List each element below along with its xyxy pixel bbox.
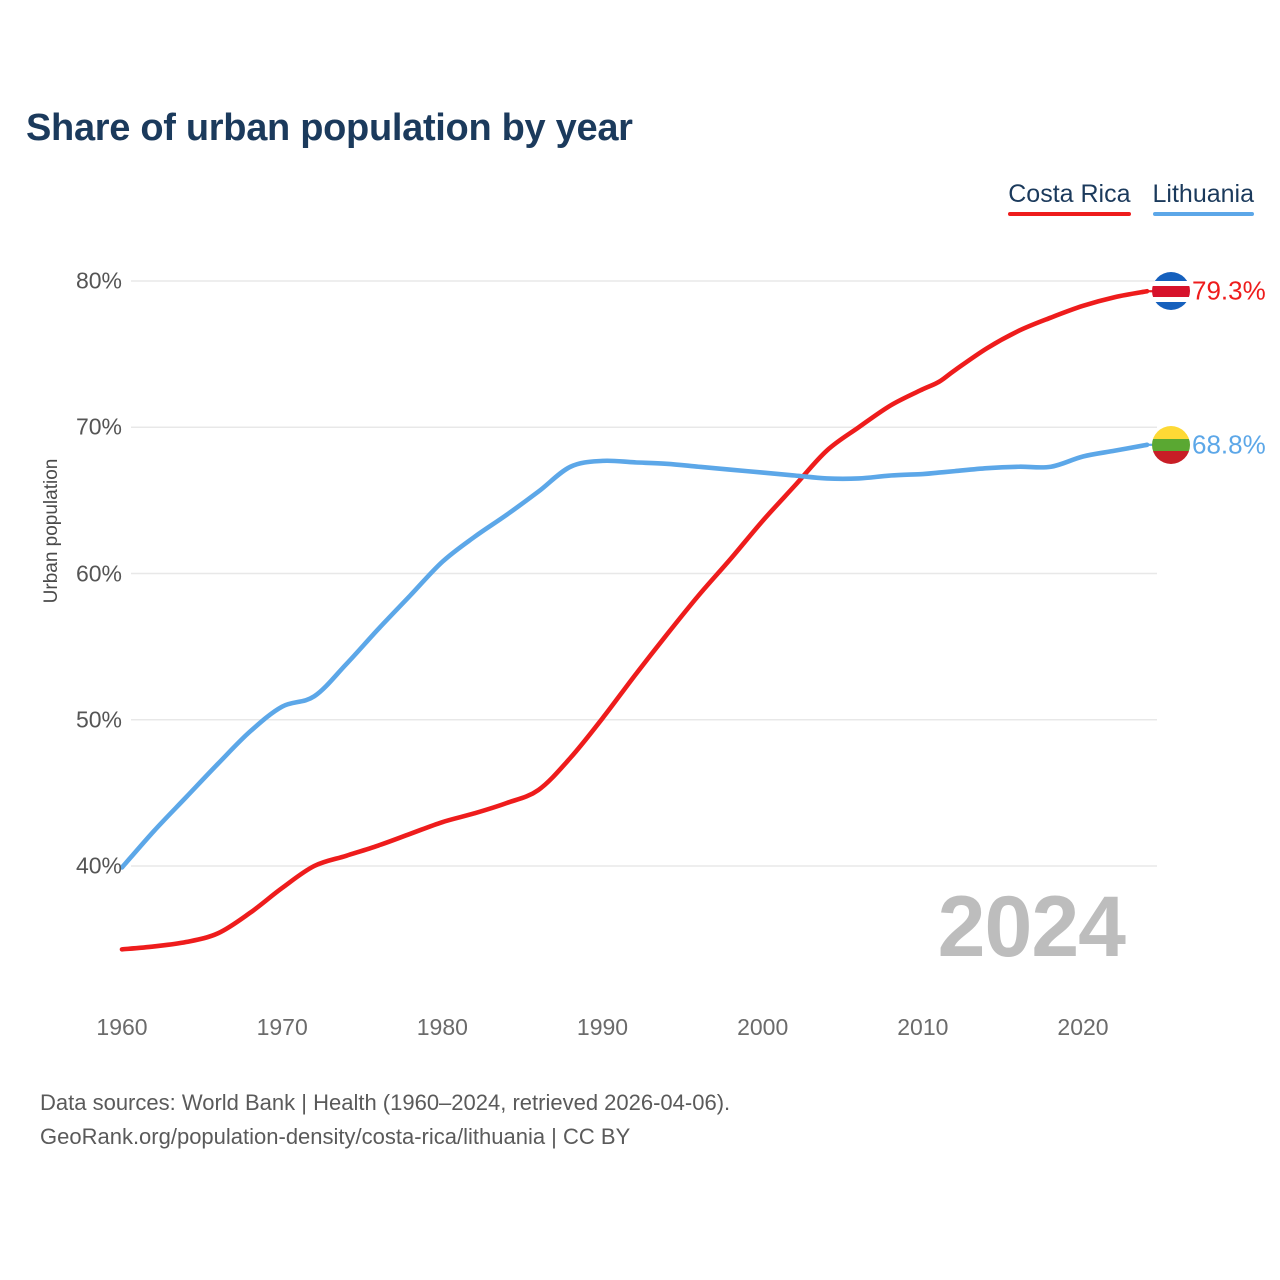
end-value-lithuania: 68.8% [1192, 429, 1266, 460]
chart-page: Share of urban population by year Costa … [0, 0, 1280, 1280]
footer-credits: Data sources: World Bank | Health (1960–… [40, 1086, 730, 1154]
costa-rica-flag-icon [1152, 272, 1190, 310]
flag-stripe [1152, 286, 1190, 297]
x-tick-label: 1960 [96, 1014, 147, 1041]
end-value-costa-rica: 79.3% [1192, 276, 1266, 307]
x-tick-label: 1990 [577, 1014, 628, 1041]
x-tick-label: 2010 [897, 1014, 948, 1041]
x-tick-label: 1980 [417, 1014, 468, 1041]
series-line-costa-rica [122, 291, 1147, 949]
x-tick-label: 2000 [737, 1014, 788, 1041]
x-tick-label: 1970 [257, 1014, 308, 1041]
y-tick-label: 40% [32, 853, 122, 880]
x-tick-label: 2020 [1057, 1014, 1108, 1041]
lithuania-flag-icon [1152, 426, 1190, 464]
y-axis-label: Urban population [41, 431, 63, 631]
footer-line-sources: Data sources: World Bank | Health (1960–… [40, 1086, 730, 1120]
footer-line-attribution: GeoRank.org/population-density/costa-ric… [40, 1120, 730, 1154]
series-line-lithuania [122, 445, 1147, 868]
flag-stripe [1152, 439, 1190, 452]
y-tick-label: 50% [32, 706, 122, 733]
y-tick-label: 80% [32, 268, 122, 295]
